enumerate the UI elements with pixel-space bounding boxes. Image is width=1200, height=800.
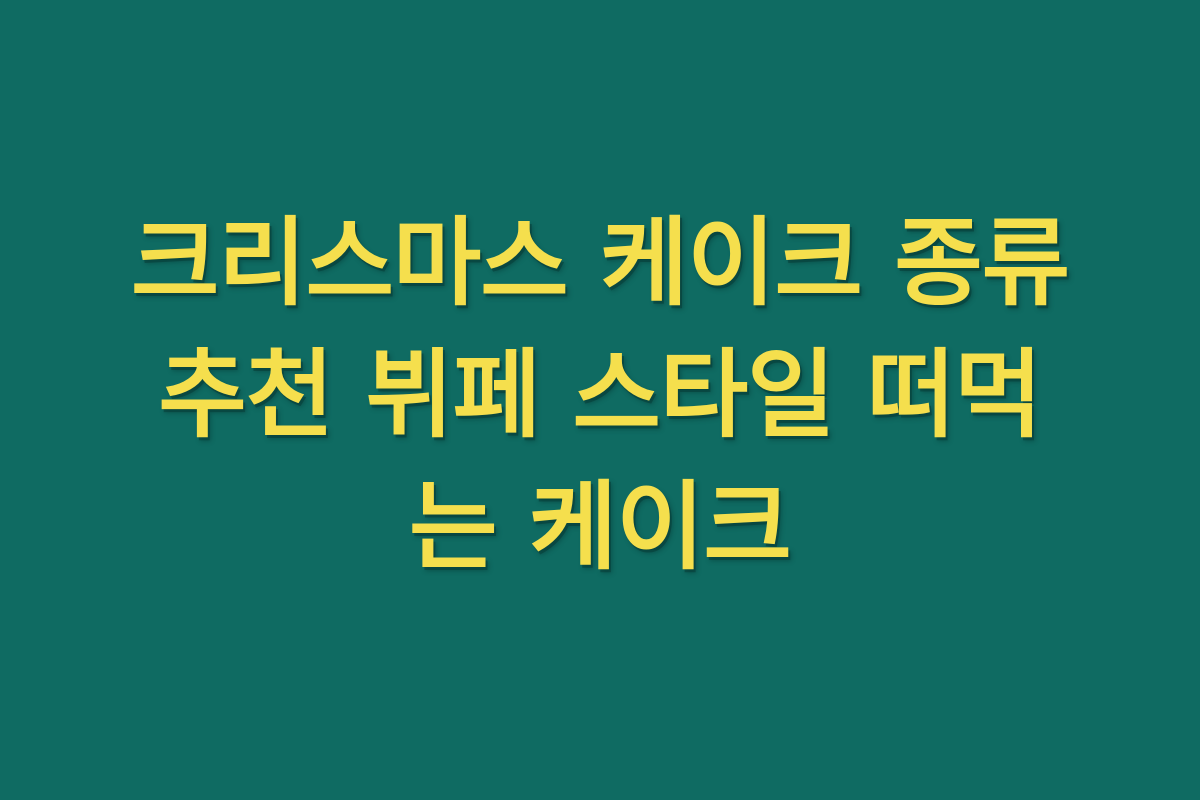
title-line-3: 는 케이크 [85,461,1115,593]
thumbnail-card: 크리스마스 케이크 종류 추천 뷔페 스타일 떠먹 는 케이크 [0,0,1200,800]
title-text-block: 크리스마스 케이크 종류 추천 뷔페 스타일 떠먹 는 케이크 [85,197,1115,593]
title-line-2: 추천 뷔페 스타일 떠먹 [85,329,1115,461]
title-line-1: 크리스마스 케이크 종류 [85,197,1115,329]
